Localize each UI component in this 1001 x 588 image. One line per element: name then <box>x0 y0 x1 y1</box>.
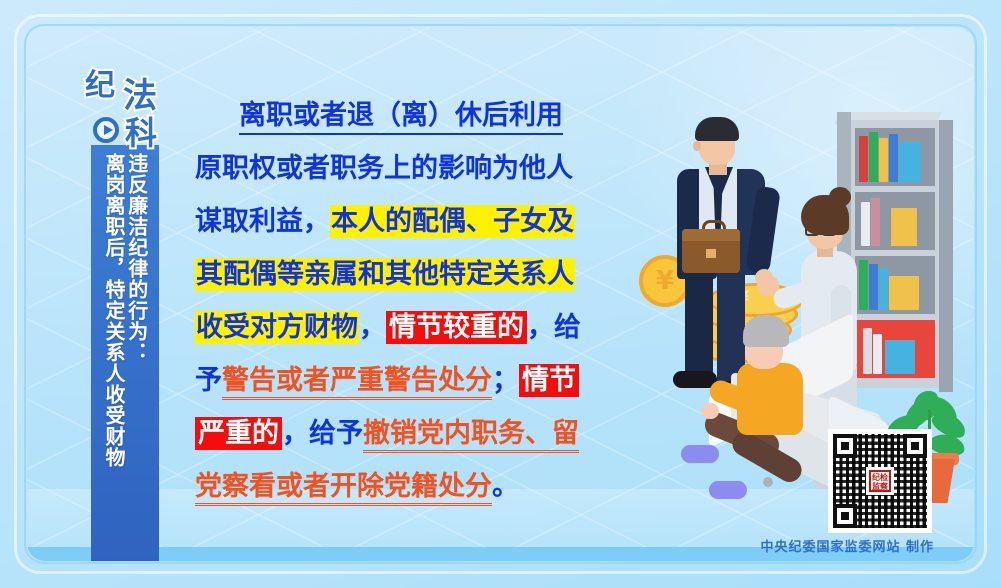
text-segment-blue: ，给予 <box>282 418 363 449</box>
play-icon <box>93 117 119 143</box>
banner-column-right: 违反廉洁纪律的行为： <box>126 153 147 561</box>
poster-canvas: ¥ ¥ <box>27 27 974 561</box>
text-segment-blue: 谋取利益， <box>195 206 330 237</box>
body-text-line: 予警告或者严重警告处分；情节 <box>195 354 607 407</box>
text-segment-red-highlight: 严重的 <box>195 417 282 450</box>
text-segment-blue: 原职权或者职务上的影响为他人 <box>195 153 573 184</box>
text-segment-red-highlight: 情节 <box>519 364 579 397</box>
text-segment-blue: ，给 <box>527 312 581 343</box>
body-text-line: 谋取利益，本人的配偶、子女及 <box>195 195 607 248</box>
text-segment-yellow-highlight: 收受对方财物 <box>195 311 359 344</box>
qr-seal-logo: 纪检监察 <box>866 467 894 495</box>
text-segment-red-highlight: 情节较重的 <box>386 311 527 344</box>
qr-finder-bottom-left <box>833 504 857 528</box>
briefcase-icon <box>682 229 740 273</box>
program-logo: 纪 法 科 <box>83 71 169 157</box>
logo-char-4: 科 <box>125 117 157 149</box>
text-segment-orange-underline: 党察看或者开除党籍处分 <box>195 471 492 506</box>
body-text-line: 其配偶等亲属和其他特定关系人 <box>195 248 607 301</box>
text-segment-blue: ； <box>492 365 519 396</box>
text-segment-orange-underline: 撤销党内职务、留 <box>363 418 579 453</box>
vertical-title-banner: 违反廉洁纪律的行为： 离岗离职后，特定关系人收受财物 <box>91 145 159 561</box>
qr-code[interactable]: 纪检监察 <box>828 429 932 533</box>
text-segment-blue: 。 <box>492 471 519 502</box>
credit-text: 中央纪委国家监委网站 制作 <box>760 536 934 555</box>
text-segment-blue: 予 <box>195 365 222 396</box>
body-text-line: 收受对方财物，情节较重的，给 <box>195 301 607 354</box>
qr-finder-top-right <box>903 434 927 458</box>
text-segment-orange-underline: 警告或者严重警告处分 <box>222 365 492 400</box>
body-text-line: 党察看或者开除党籍处分。 <box>195 460 607 513</box>
logo-char-1: 纪 <box>85 71 115 101</box>
poster-root: ¥ ¥ <box>0 0 1001 588</box>
text-segment-blue-underline: 离职或者退（离）休后利用 <box>239 100 563 135</box>
text-segment-yellow-highlight: 本人的配偶、子女及 <box>330 205 575 238</box>
text-segment-blue: ， <box>359 312 386 343</box>
qr-finder-top-left <box>833 434 857 458</box>
text-segment-yellow-highlight: 其配偶等亲属和其他特定关系人 <box>195 258 575 291</box>
body-text-line: 严重的，给予撤销党内职务、留 <box>195 407 607 460</box>
logo-char-2: 法 <box>123 79 157 113</box>
regulation-body-text: 离职或者退（离）休后利用原职权或者职务上的影响为他人谋取利益，本人的配偶、子女及… <box>195 89 607 513</box>
body-text-line: 原职权或者职务上的影响为他人 <box>195 142 607 195</box>
body-text-line: 离职或者退（离）休后利用 <box>195 89 607 142</box>
banner-column-left: 离岗离职后，特定关系人收受财物 <box>103 153 124 561</box>
